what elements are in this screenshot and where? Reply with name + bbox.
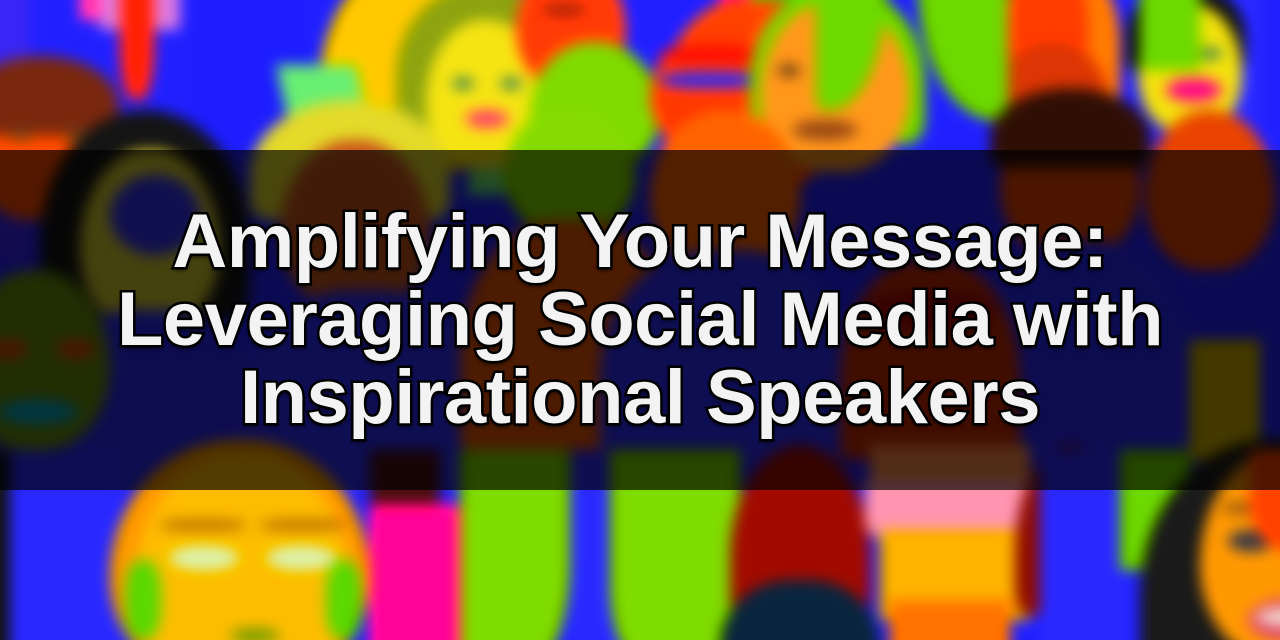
banner: Amplifying Your Message: Leveraging Soci… — [0, 0, 1280, 640]
title-overlay-band: Amplifying Your Message: Leveraging Soci… — [0, 150, 1280, 490]
crowd-figure — [1140, 0, 1200, 70]
page-title: Amplifying Your Message: Leveraging Soci… — [0, 203, 1280, 437]
